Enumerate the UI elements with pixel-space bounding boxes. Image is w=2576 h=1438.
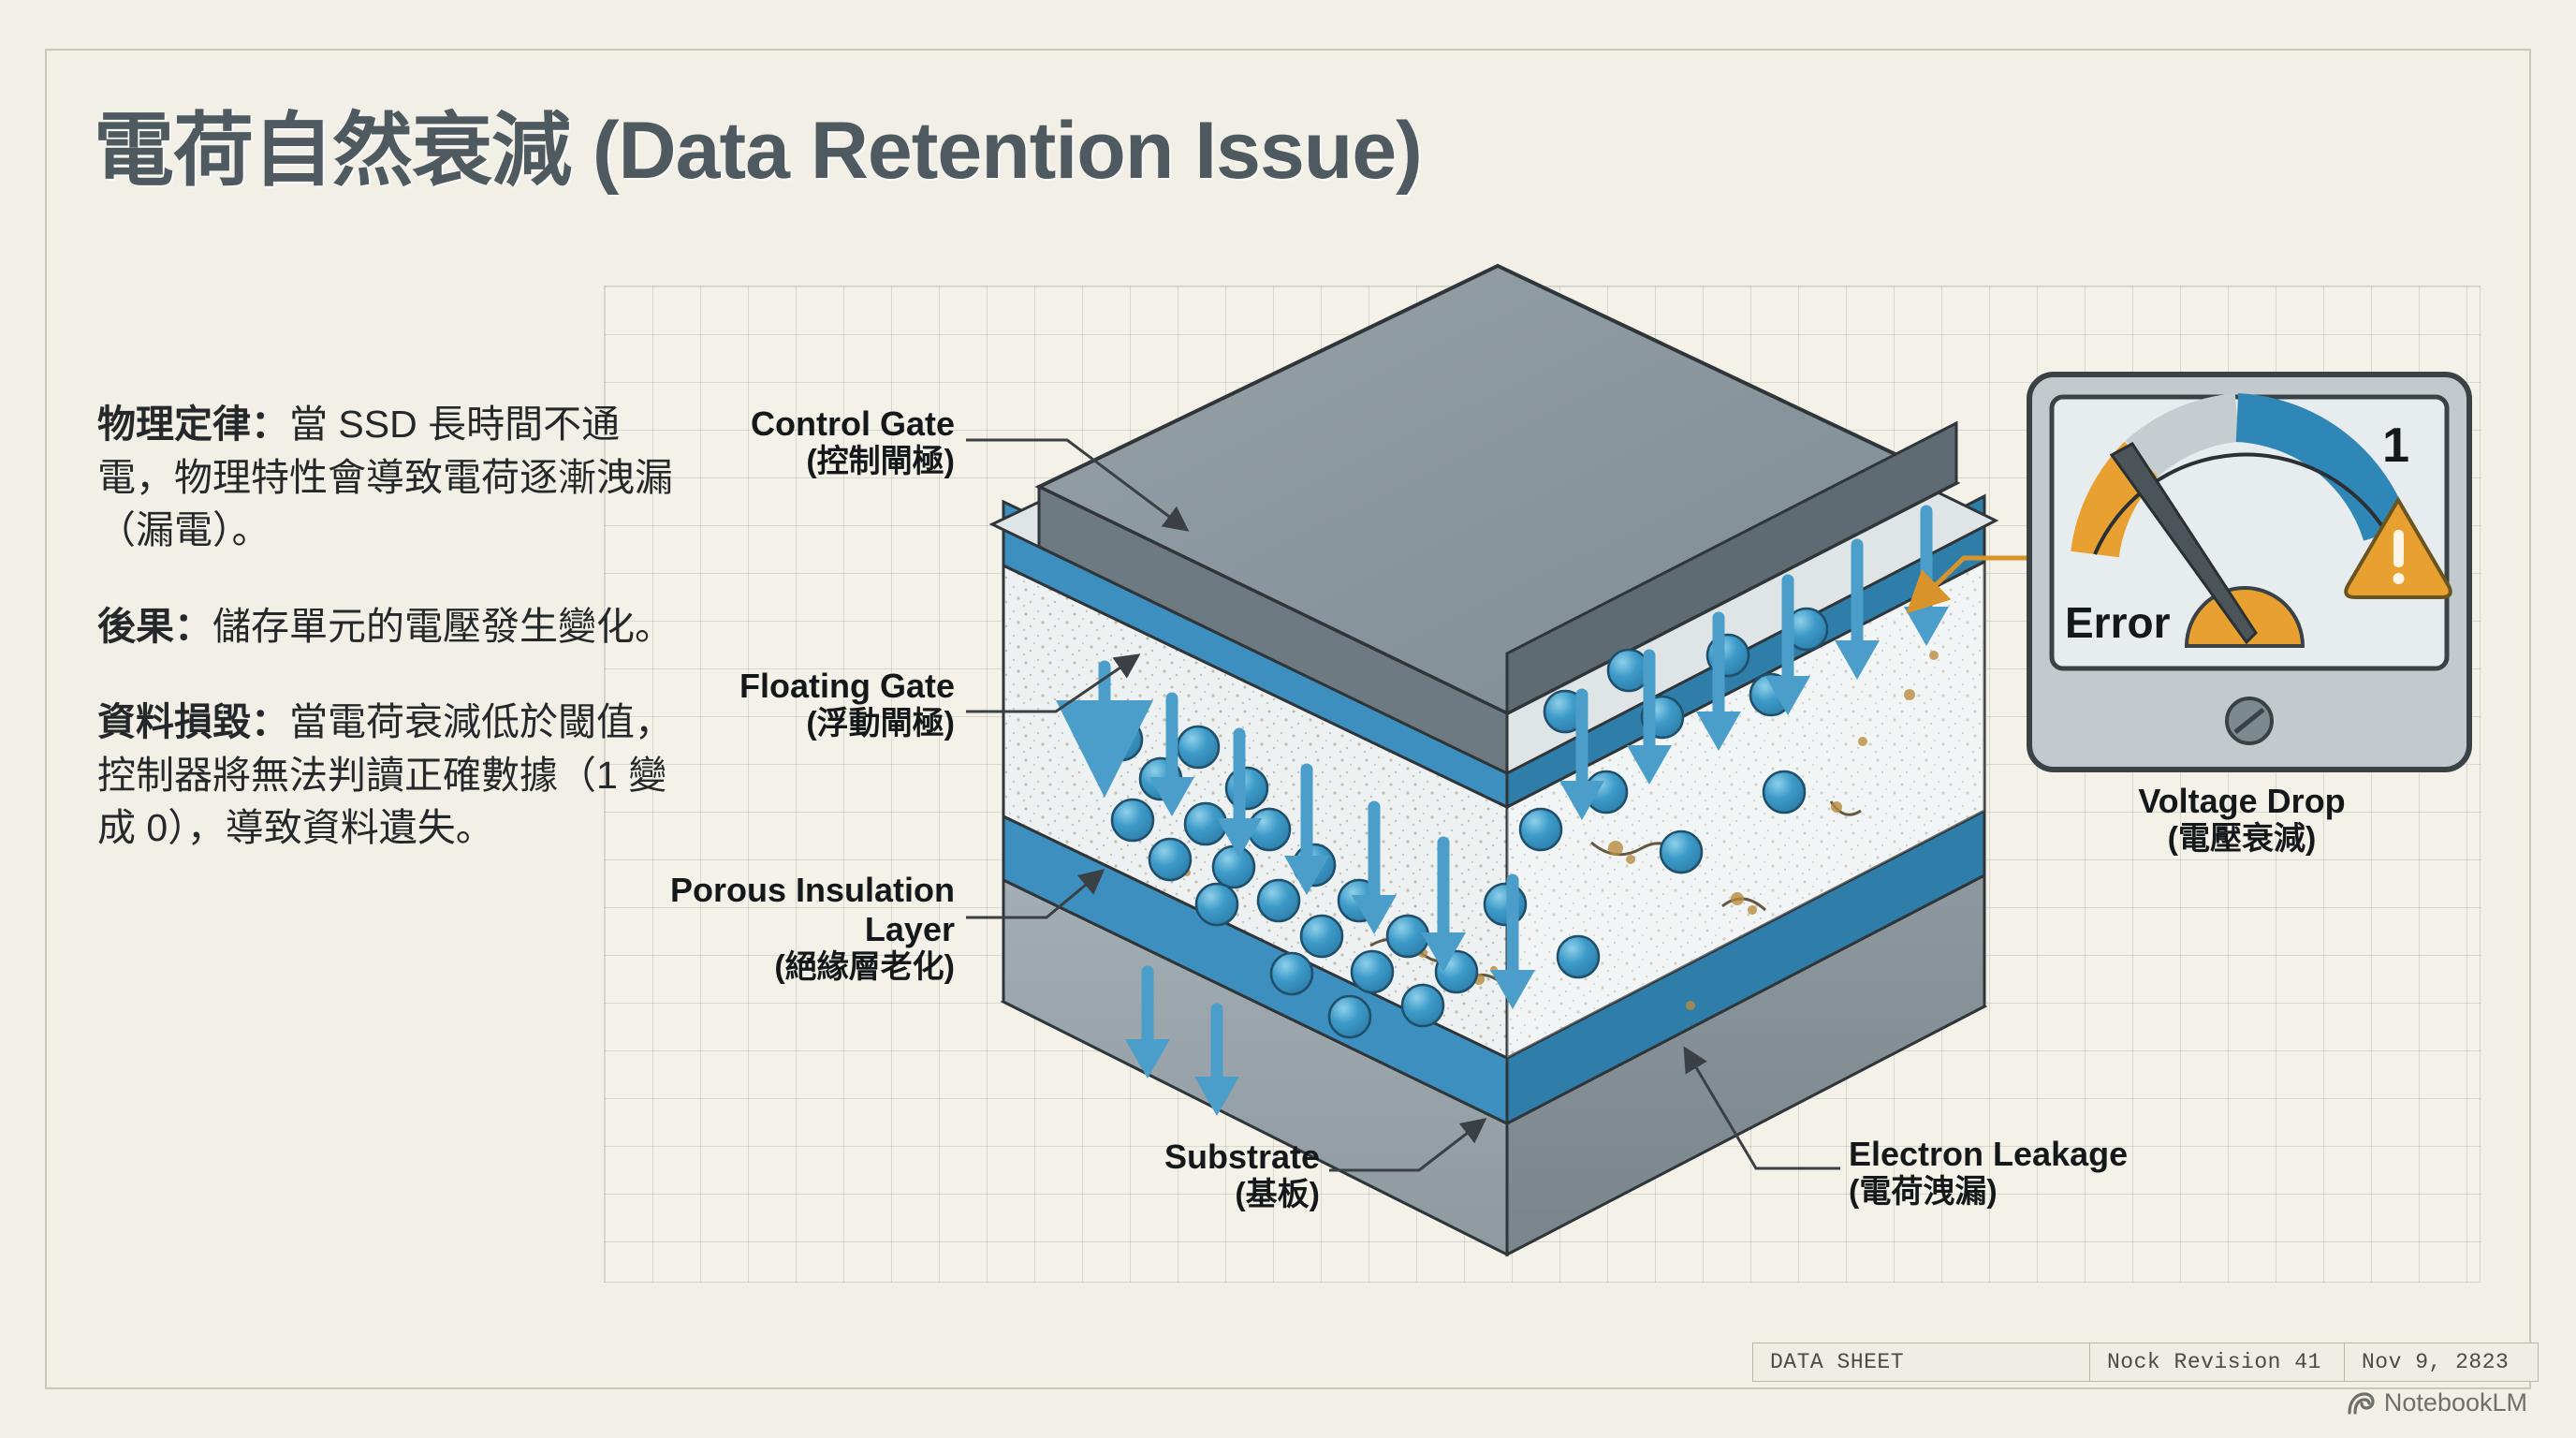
label-control-gate-en: Control Gate xyxy=(646,404,955,444)
label-control-gate-zh: (控制閘極) xyxy=(646,444,955,480)
label-substrate-zh: (基板) xyxy=(1011,1177,1320,1213)
slide-canvas: 電荷自然衰減 (Data Retention Issue) 物理定律：當 SSD… xyxy=(0,0,2576,1438)
label-electron-leakage-zh: (電荷洩漏) xyxy=(1849,1174,2242,1211)
label-floating-gate: Floating Gate (浮動閘極) xyxy=(637,667,955,742)
explanation-text-panel: 物理定律：當 SSD 長時間不通電，物理特性會導致電荷逐漸洩漏（漏電）。 後果：… xyxy=(97,398,678,898)
paragraph-physical-law: 物理定律：當 SSD 長時間不通電，物理特性會導致電荷逐漸洩漏（漏電）。 xyxy=(97,398,678,557)
notebooklm-label: NotebookLM xyxy=(2384,1388,2527,1417)
meta-date: Nov 9, 2823 xyxy=(2345,1343,2538,1381)
label-porous-insulation-zh: (絕緣層老化) xyxy=(655,949,955,986)
paragraph-label-data-corruption: 資料損毀： xyxy=(97,700,289,743)
paragraph-body-consequence: 儲存單元的電壓發生變化。 xyxy=(212,605,673,648)
label-electron-leakage-en: Electron Leakage xyxy=(1849,1135,2242,1174)
notebooklm-watermark: NotebookLM xyxy=(2347,1388,2527,1417)
gauge-error-label: Error xyxy=(2065,597,2170,648)
label-substrate: Substrate (基板) xyxy=(1011,1137,1320,1213)
paragraph-data-corruption: 資料損毀：當電荷衰減低於閾值，控制器將無法判讀正確數據（1 變成 0），導致資料… xyxy=(97,696,678,855)
paragraph-label-physical-law: 物理定律： xyxy=(97,403,289,446)
voltage-gauge: 1 Error xyxy=(2029,374,2469,770)
label-floating-gate-zh: (浮動閘極) xyxy=(637,706,955,742)
meta-data-sheet: DATA SHEET xyxy=(1753,1343,2090,1381)
label-control-gate: Control Gate (控制閘極) xyxy=(646,404,955,480)
label-porous-insulation-en: Porous Insulation Layer xyxy=(655,871,955,949)
paragraph-label-consequence: 後果： xyxy=(97,605,212,648)
label-voltage-drop-en: Voltage Drop xyxy=(2064,782,2420,821)
label-floating-gate-en: Floating Gate xyxy=(637,667,955,706)
notebooklm-logo-icon xyxy=(2347,1391,2375,1416)
label-porous-insulation: Porous Insulation Layer (絕緣層老化) xyxy=(655,871,955,986)
paragraph-consequence: 後果：儲存單元的電壓發生變化。 xyxy=(97,600,678,653)
label-substrate-en: Substrate xyxy=(1011,1137,1320,1177)
gauge-value-label: 1 xyxy=(2382,418,2409,474)
label-voltage-drop: Voltage Drop (電壓衰減) xyxy=(2064,782,2420,858)
label-electron-leakage: Electron Leakage (電荷洩漏) xyxy=(1849,1135,2242,1211)
page-title: 電荷自然衰減 (Data Retention Issue) xyxy=(94,84,1685,201)
label-voltage-drop-zh: (電壓衰減) xyxy=(2064,821,2420,858)
meta-revision: Nock Revision 41 xyxy=(2090,1343,2345,1381)
footer-meta-bar: DATA SHEET Nock Revision 41 Nov 9, 2823 xyxy=(1752,1343,2539,1382)
